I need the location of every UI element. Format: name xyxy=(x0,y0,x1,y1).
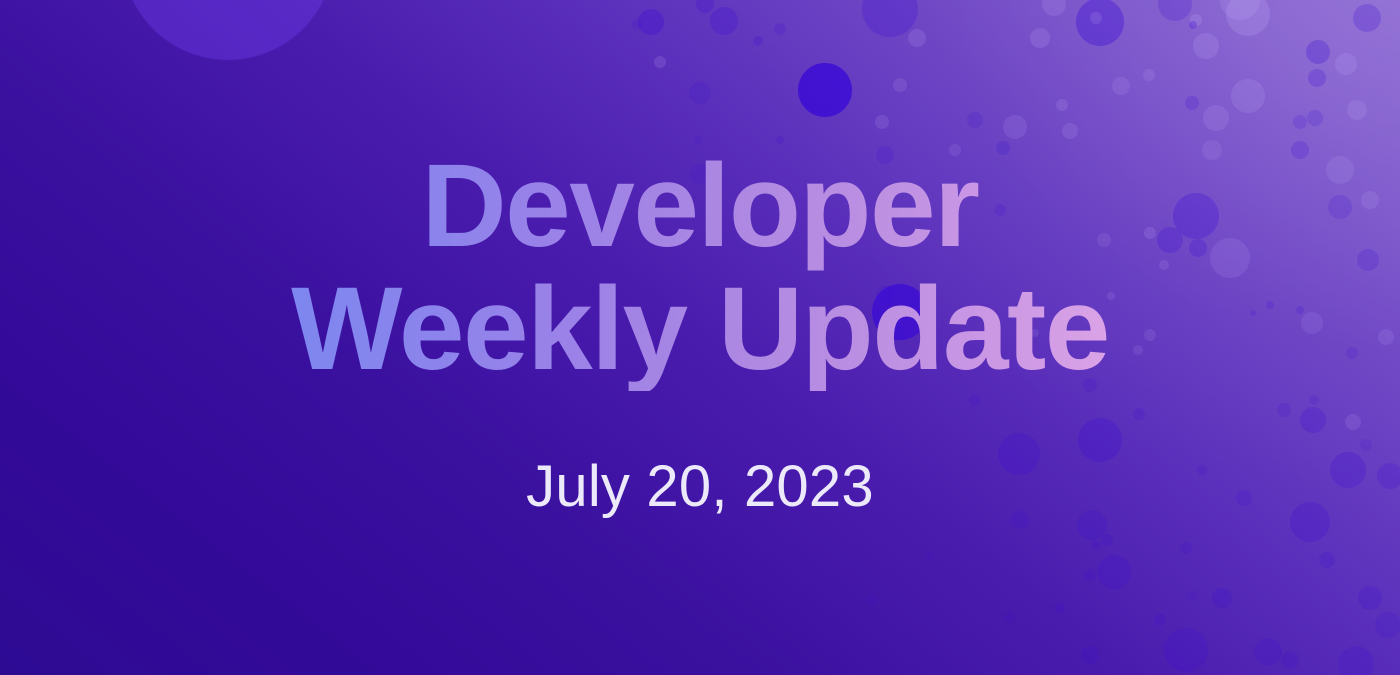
page-title: Developer Weekly Update xyxy=(291,145,1109,390)
banner-content: Developer Weekly Update July 20, 2023 xyxy=(0,0,1400,675)
publication-date: July 20, 2023 xyxy=(526,453,874,520)
developer-weekly-update-banner: Developer Weekly Update July 20, 2023 xyxy=(0,0,1400,675)
title-line-1: Developer xyxy=(291,145,1109,268)
title-line-2: Weekly Update xyxy=(291,268,1109,391)
